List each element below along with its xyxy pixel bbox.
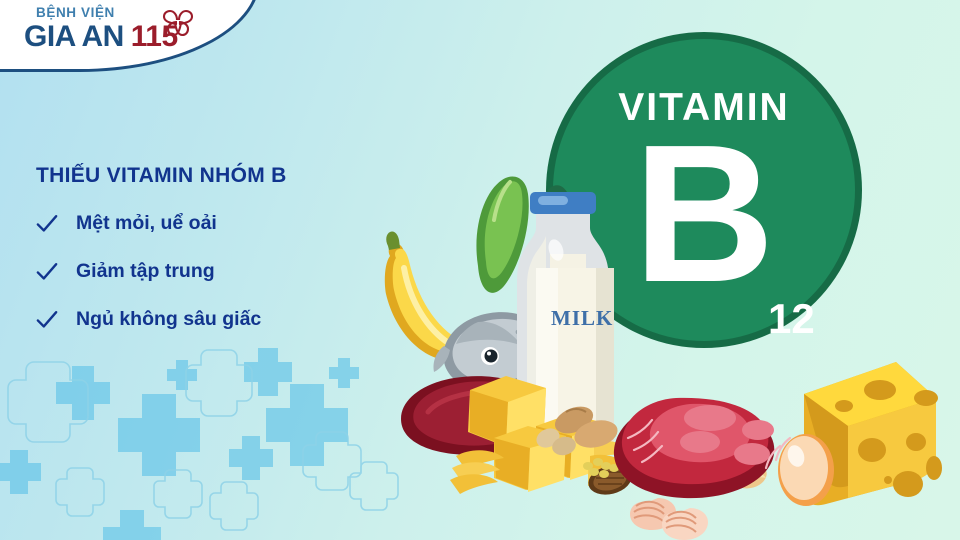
list-item-label: Mệt mỏi, uể oải (76, 212, 217, 235)
logo-top-line: BỆNH VIỆN (24, 6, 178, 21)
check-icon (36, 309, 58, 331)
poster-canvas: BỆNH VIỆN GIA AN 115 THIẾU VITAMIN NHÓM … (0, 0, 960, 540)
copy-block: THIẾU VITAMIN NHÓM B Mệt mỏi, uể oải Giả… (36, 164, 287, 331)
clover-heart-icon (158, 3, 198, 41)
medical-cross-icon (0, 340, 420, 540)
shrimp-icon (630, 498, 708, 540)
page-title: THIẾU VITAMIN NHÓM B (36, 164, 287, 188)
food-illustration (360, 150, 960, 540)
list-item: Mệt mỏi, uể oải (36, 212, 287, 235)
hospital-logo[interactable]: BỆNH VIỆN GIA AN 115 (24, 6, 178, 52)
list-item-label: Giảm tập trung (76, 260, 215, 283)
red-meat-icon (614, 398, 790, 498)
list-item: Ngủ không sâu giấc (36, 308, 287, 331)
milk-label: MILK (551, 306, 613, 331)
list-item: Giảm tập trung (36, 260, 287, 283)
check-icon (36, 213, 58, 235)
logo-name: GIA AN (24, 22, 124, 52)
list-item-label: Ngủ không sâu giấc (76, 308, 261, 331)
egg-icon (778, 434, 834, 506)
check-icon (36, 261, 58, 283)
decorative-crosses (0, 340, 420, 540)
symptom-list: Mệt mỏi, uể oải Giảm tập trung Ngủ không… (36, 212, 287, 331)
